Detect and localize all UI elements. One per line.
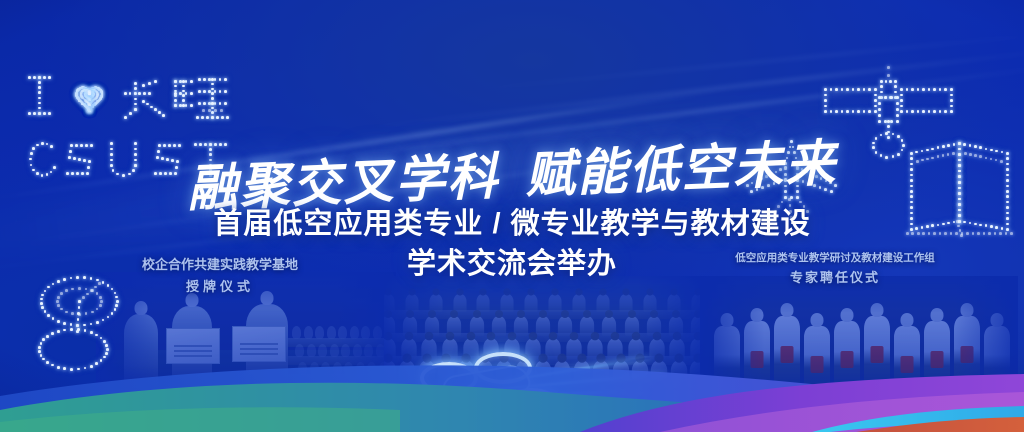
headline-part-2: 赋能低空未来 [524, 133, 838, 204]
caption-left-line-2: 授牌仪式 [70, 276, 370, 298]
subtitle-line-1: 首届低空应用类专业 / 微专业教学与教材建设 [213, 208, 810, 240]
low-altitude-conference-banner: 融聚交叉学科赋能低空未来 首届低空应用类专业 / 微专业教学与教材建设 学术交流… [0, 0, 1024, 432]
bottom-wave-decoration [0, 352, 1024, 432]
caption-left-photo: 校企合作共建实践教学基地 授牌仪式 [70, 254, 370, 298]
caption-right-line-1: 低空应用类专业教学研讨及教材建设工作组 [735, 252, 935, 264]
caption-right-photo: 低空应用类专业教学研讨及教材建设工作组 专家聘任仪式 [680, 249, 990, 287]
caption-right-line-2: 专家聘任仪式 [680, 268, 990, 287]
caption-left-line-1: 校企合作共建实践教学基地 [142, 257, 298, 272]
